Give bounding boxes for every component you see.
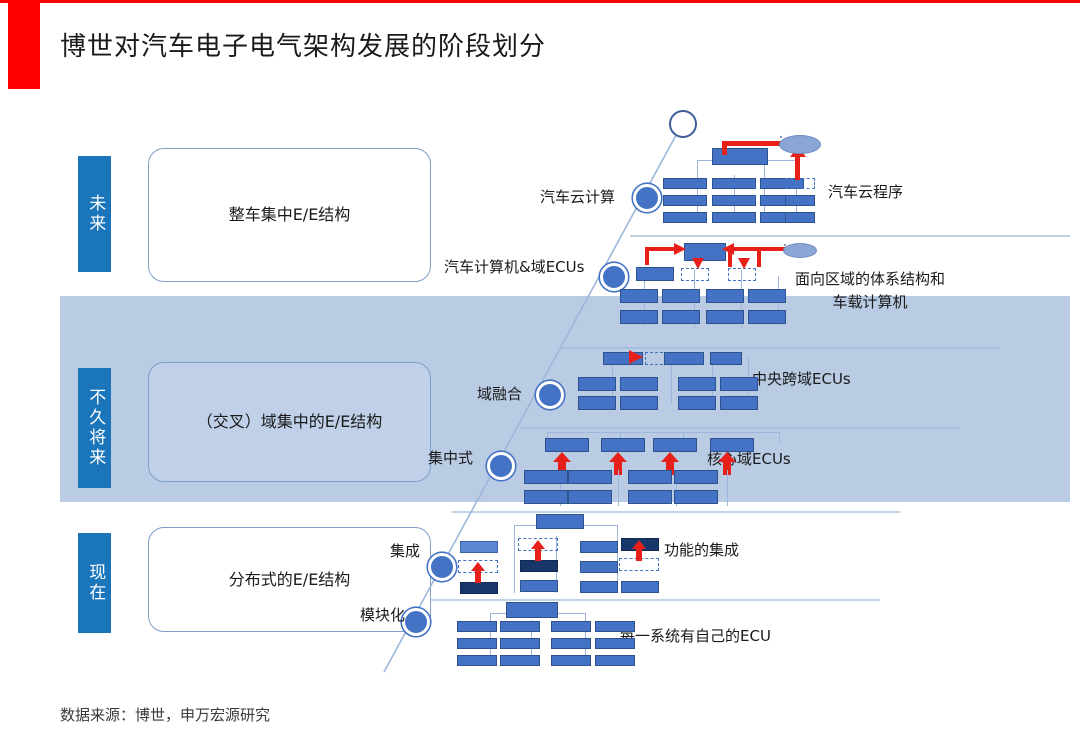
ecu-block — [551, 621, 591, 632]
slide-canvas: 博世对汽车电子电气架构发展的阶段划分 未来 不久将来 现在 整车集中E/E结构 … — [0, 0, 1080, 751]
ecu-block — [595, 655, 635, 666]
ecu-block — [580, 581, 618, 593]
ecu-block — [674, 470, 718, 484]
ecu-block — [710, 352, 742, 365]
stage-node-centralized[interactable] — [487, 452, 515, 480]
ecu-block — [712, 148, 768, 165]
page-title: 博世对汽车电子电气架构发展的阶段划分 — [60, 26, 546, 63]
ecu-central-block — [684, 243, 726, 261]
ecu-block — [500, 638, 540, 649]
cloud-icon — [783, 243, 817, 258]
ecu-block — [663, 212, 707, 223]
ecu-block — [536, 514, 584, 529]
ecu-block — [595, 638, 635, 649]
stage-node-top[interactable] — [669, 110, 697, 138]
ecu-block — [664, 352, 704, 365]
ecu-block — [545, 438, 589, 452]
stage-node-vehicle-computer[interactable] — [600, 263, 628, 291]
ecu-block — [460, 541, 498, 553]
ecu-block — [712, 212, 756, 223]
red-arrow-up-icon — [631, 540, 647, 562]
red-arrow-left-icon — [722, 243, 735, 256]
desc-cross-domain-ecus: 中央跨域ECUs — [752, 368, 851, 391]
ecu-block-virtual — [785, 178, 815, 189]
desc-zonal-architecture: 面向区域的体系结构和 车载计算机 — [795, 268, 945, 313]
ecu-block — [636, 267, 674, 281]
ecu-block — [706, 310, 744, 324]
ecu-block — [720, 377, 758, 391]
ecu-block — [712, 195, 756, 206]
ecu-block — [457, 655, 497, 666]
ecu-block — [578, 377, 616, 391]
ecu-block — [620, 289, 658, 303]
ecu-block — [500, 655, 540, 666]
source-note: 数据来源：博世，申万宏源研究 — [60, 704, 270, 725]
era-tab-near-future: 不久将来 — [78, 368, 111, 488]
ecu-block — [620, 310, 658, 324]
ecu-block — [678, 396, 716, 410]
ecu-block — [621, 581, 659, 593]
ecu-block — [663, 178, 707, 189]
red-arrow-down-icon — [692, 258, 705, 270]
ecu-block — [710, 438, 754, 452]
stage-label-cloud-computing: 汽车云计算 — [540, 186, 615, 207]
ecu-block — [524, 470, 568, 484]
ecu-block — [748, 310, 786, 324]
desc-cloud-programs: 汽车云程序 — [828, 181, 903, 204]
stage-node-cloud-computing[interactable] — [633, 184, 661, 212]
stage-label-domain-fusion: 域融合 — [477, 383, 522, 404]
cloud-icon — [779, 135, 821, 154]
ecu-block — [457, 638, 497, 649]
stage-label-modular: 模块化 — [360, 604, 405, 625]
era-tab-future: 未来 — [78, 156, 111, 272]
ecu-block — [506, 602, 558, 618]
stage-node-domain-fusion[interactable] — [536, 381, 564, 409]
ecu-block — [653, 438, 697, 452]
ecu-block — [674, 490, 718, 504]
ecu-block — [595, 621, 635, 632]
red-connector — [645, 247, 649, 265]
era-box-future: 整车集中E/E结构 — [148, 148, 431, 282]
desc-one-ecu-per-system: 每一系统有自己的ECU — [620, 625, 771, 648]
ecu-block — [620, 377, 658, 391]
ecu-block — [568, 470, 612, 484]
ecu-block — [580, 541, 618, 553]
ecu-block — [578, 396, 616, 410]
stage-label-centralized: 集中式 — [428, 447, 473, 468]
stage-label-integration: 集成 — [390, 540, 420, 561]
ecu-block — [551, 655, 591, 666]
red-arrow-down-icon — [738, 258, 751, 270]
ecu-block — [457, 621, 497, 632]
ecu-block — [620, 396, 658, 410]
red-arrow-up-icon — [530, 540, 546, 562]
desc-function-integration: 功能的集成 — [664, 539, 739, 562]
era-tab-present: 现在 — [78, 533, 111, 633]
red-arrow-up-icon — [470, 562, 486, 584]
ecu-block — [662, 310, 700, 324]
stage-label-vehicle-computer: 汽车计算机&域ECUs — [444, 256, 584, 277]
ecu-block — [601, 438, 645, 452]
stage-node-integration[interactable] — [428, 553, 456, 581]
title-red-accent-bar — [8, 3, 40, 89]
ecu-block — [663, 195, 707, 206]
ecu-block — [500, 621, 540, 632]
red-arrow-right-icon — [629, 350, 644, 365]
ecu-block — [580, 561, 618, 573]
ecu-block — [720, 396, 758, 410]
ecu-block — [628, 490, 672, 504]
ecu-block — [662, 289, 700, 303]
ecu-block — [568, 490, 612, 504]
ecu-block — [520, 580, 558, 592]
ecu-block — [524, 490, 568, 504]
ecu-block — [785, 195, 815, 206]
ecu-block — [706, 289, 744, 303]
era-box-near-future: （交叉）域集中的E/E结构 — [148, 362, 431, 482]
top-red-rule — [0, 0, 1080, 3]
red-connector — [722, 141, 784, 146]
ecu-block — [785, 212, 815, 223]
ecu-block — [712, 178, 756, 189]
ecu-block — [551, 638, 591, 649]
red-arrow-right-icon — [674, 243, 687, 256]
ecu-block — [628, 470, 672, 484]
ecu-block — [678, 377, 716, 391]
ecu-block — [748, 289, 786, 303]
stage-node-modular[interactable] — [402, 608, 430, 636]
